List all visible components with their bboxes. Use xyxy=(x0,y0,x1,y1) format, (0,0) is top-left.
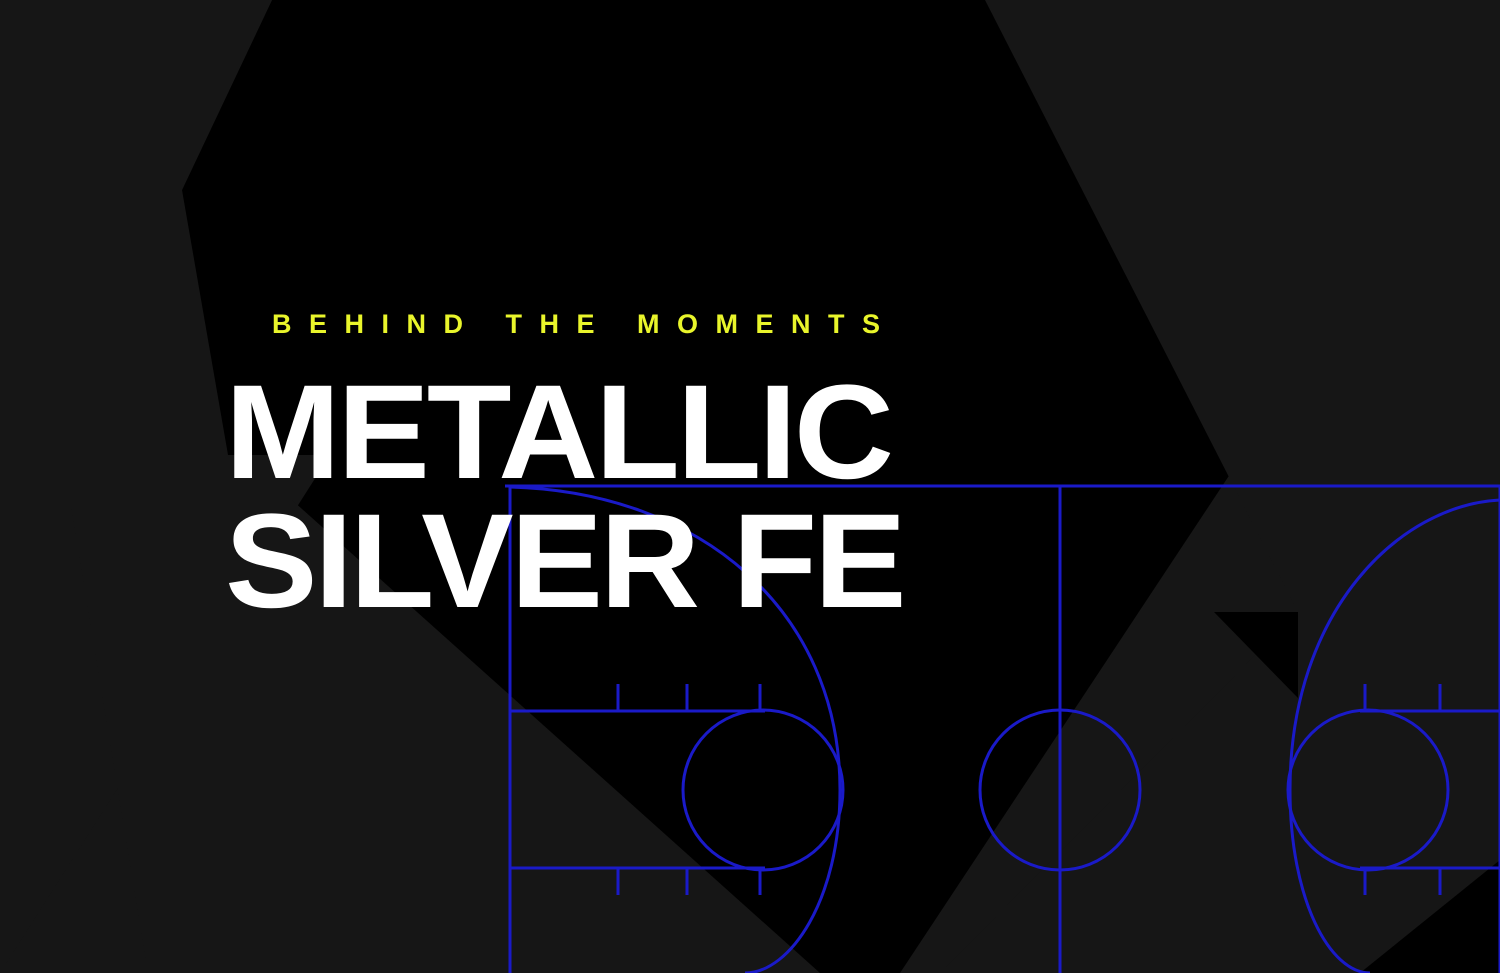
court-right-free-throw-circle xyxy=(1288,710,1448,870)
basketball-court-diagram xyxy=(0,0,1500,973)
court-left-free-throw-circle xyxy=(683,710,843,870)
court-left-three-point-arc xyxy=(510,487,840,973)
court-right-three-point-arc xyxy=(1290,500,1500,973)
hero-banner: BEHIND THE MOMENTS METALLIC SILVER FE xyxy=(0,0,1500,973)
